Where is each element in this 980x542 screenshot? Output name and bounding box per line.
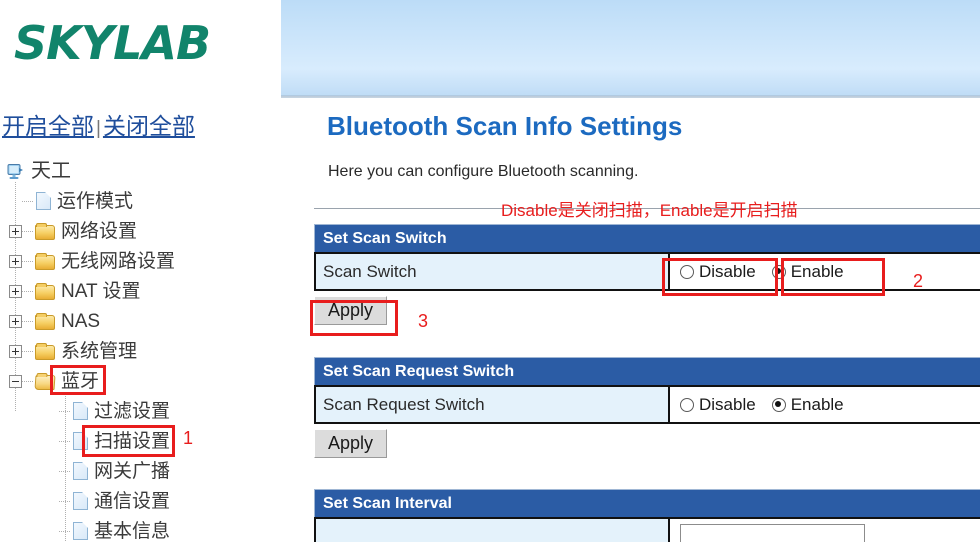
scan-switch-apply-button[interactable]: Apply <box>314 296 387 325</box>
tree-connector <box>59 531 70 532</box>
expander-plus-icon[interactable] <box>9 285 22 298</box>
logo-area: SKYLAB <box>0 0 281 98</box>
tree-connector <box>22 321 33 322</box>
collapse-all-link[interactable]: 关闭全部 <box>103 113 195 139</box>
sidebar-item-filter-settings[interactable]: 过滤设置 <box>0 396 281 426</box>
sidebar-item-label: 系统管理 <box>55 342 137 361</box>
page-icon <box>73 402 88 420</box>
folder-icon <box>35 315 55 330</box>
panel-set-scan-switch: Set Scan Switch Scan Switch Disable Enab… <box>314 224 980 291</box>
main-content: Bluetooth Scan Info Settings Here you ca… <box>281 98 980 542</box>
folder-icon <box>35 225 55 240</box>
folder-open-icon <box>34 375 55 390</box>
computer-icon <box>6 162 25 181</box>
sidebar-item-nat-settings[interactable]: NAT 设置 <box>0 276 281 306</box>
radio-option-enable[interactable]: Enable <box>772 262 844 282</box>
table-row <box>314 517 980 542</box>
folder-icon <box>35 345 55 360</box>
sidebar-item-wireless-settings[interactable]: 无线网路设置 <box>0 246 281 276</box>
sidebar-item-label: 通信设置 <box>88 492 170 511</box>
sidebar-item-network-settings[interactable]: 网络设置 <box>0 216 281 246</box>
folder-icon <box>35 255 55 270</box>
sidebar-item-label: 蓝牙 <box>55 372 99 391</box>
radio-label: Disable <box>699 395 756 415</box>
page-icon <box>73 432 88 450</box>
row-label: Scan Switch <box>316 254 670 289</box>
radio-option-disable[interactable]: Disable <box>680 262 756 282</box>
radio-label: Enable <box>791 262 844 282</box>
annotation-number-3: 3 <box>418 311 428 332</box>
link-separator: | <box>94 118 103 139</box>
page-icon <box>73 522 88 540</box>
expander-plus-icon[interactable] <box>9 345 22 358</box>
skylab-logo: SKYLAB <box>14 16 210 70</box>
table-row: Scan Switch Disable Enable <box>314 252 980 291</box>
radio-icon[interactable] <box>772 398 786 412</box>
table-row: Scan Request Switch Disable Enable <box>314 385 980 424</box>
panel-set-scan-request-switch: Set Scan Request Switch Scan Request Swi… <box>314 357 980 424</box>
annotation-number-1: 1 <box>183 428 193 449</box>
panel-heading: Set Scan Request Switch <box>314 357 980 385</box>
tree-connector <box>22 351 33 352</box>
tree-connector <box>22 231 33 232</box>
expand-all-link[interactable]: 开启全部 <box>2 113 94 139</box>
page-description: Here you can configure Bluetooth scannin… <box>328 163 638 181</box>
panel-set-scan-interval: Set Scan Interval <box>314 489 980 542</box>
sidebar-item-label: 扫描设置 <box>88 432 170 451</box>
radio-option-enable[interactable]: Enable <box>772 395 844 415</box>
tree-connector <box>59 501 70 502</box>
panel-heading: Set Scan Interval <box>314 489 980 517</box>
radio-label: Enable <box>791 395 844 415</box>
browser-page: SKYLAB 开启全部|关闭全部 <box>0 0 980 542</box>
tree-connector <box>22 201 33 202</box>
scan-interval-input[interactable] <box>680 524 865 542</box>
header-banner <box>281 0 980 98</box>
scan-switch-radio-group: Disable Enable <box>670 254 980 289</box>
expander-minus-icon[interactable] <box>9 375 22 388</box>
tree-connector <box>59 441 70 442</box>
panel-heading: Set Scan Switch <box>314 224 980 252</box>
sidebar-item-label: 网络设置 <box>55 222 137 241</box>
sidebar-item-root[interactable]: 天工 <box>0 156 281 186</box>
scan-request-switch-radio-group: Disable Enable <box>670 387 980 422</box>
scan-interval-value-cell <box>670 519 980 542</box>
tree-connector <box>59 411 70 412</box>
expander-plus-icon[interactable] <box>9 255 22 268</box>
page-icon <box>73 462 88 480</box>
radio-icon[interactable] <box>772 265 786 279</box>
sidebar-item-label: 过滤设置 <box>88 402 170 421</box>
sidebar-item-communication-settings[interactable]: 通信设置 <box>0 486 281 516</box>
sidebar-item-label: 基本信息 <box>88 522 170 541</box>
sidebar-item-label: 运作模式 <box>51 192 133 211</box>
sidebar: 开启全部|关闭全部 天工 <box>0 98 281 542</box>
sidebar-item-label: 无线网路设置 <box>55 252 175 271</box>
annotation-number-2: 2 <box>913 271 923 292</box>
tree-toggle-links: 开启全部|关闭全部 <box>2 107 195 141</box>
sidebar-item-scan-settings[interactable]: 扫描设置 <box>0 426 281 456</box>
radio-label: Disable <box>699 262 756 282</box>
row-label: Scan Request Switch <box>316 387 670 422</box>
sidebar-item-label: 天工 <box>25 161 71 181</box>
tree-connector <box>22 261 33 262</box>
sidebar-item-label: 网关广播 <box>88 462 170 481</box>
tree-connector <box>59 471 70 472</box>
scan-request-switch-apply-button[interactable]: Apply <box>314 429 387 458</box>
row-label <box>316 519 670 542</box>
page-title: Bluetooth Scan Info Settings <box>327 111 682 142</box>
sidebar-item-bluetooth[interactable]: 蓝牙 <box>0 366 281 396</box>
sidebar-item-operation-mode[interactable]: 运作模式 <box>0 186 281 216</box>
radio-option-disable[interactable]: Disable <box>680 395 756 415</box>
sidebar-item-gateway-broadcast[interactable]: 网关广播 <box>0 456 281 486</box>
radio-icon[interactable] <box>680 265 694 279</box>
tree-connector <box>22 291 33 292</box>
navigation-tree: 天工 运作模式 网络设置 无线网路设置 <box>0 156 281 542</box>
annotation-note-text: Disable是关闭扫描，Enable是开启扫描 <box>501 196 798 221</box>
sidebar-item-system-management[interactable]: 系统管理 <box>0 336 281 366</box>
page-icon <box>73 492 88 510</box>
tree-connector <box>22 381 33 382</box>
page-icon <box>36 192 51 210</box>
sidebar-item-label: NAT 设置 <box>55 282 141 301</box>
sidebar-item-basic-info[interactable]: 基本信息 <box>0 516 281 542</box>
sidebar-item-label: NAS <box>55 312 100 331</box>
folder-icon <box>35 285 55 300</box>
expander-plus-icon[interactable] <box>9 315 22 328</box>
radio-icon[interactable] <box>680 398 694 412</box>
expander-plus-icon[interactable] <box>9 225 22 238</box>
sidebar-item-nas[interactable]: NAS <box>0 306 281 336</box>
